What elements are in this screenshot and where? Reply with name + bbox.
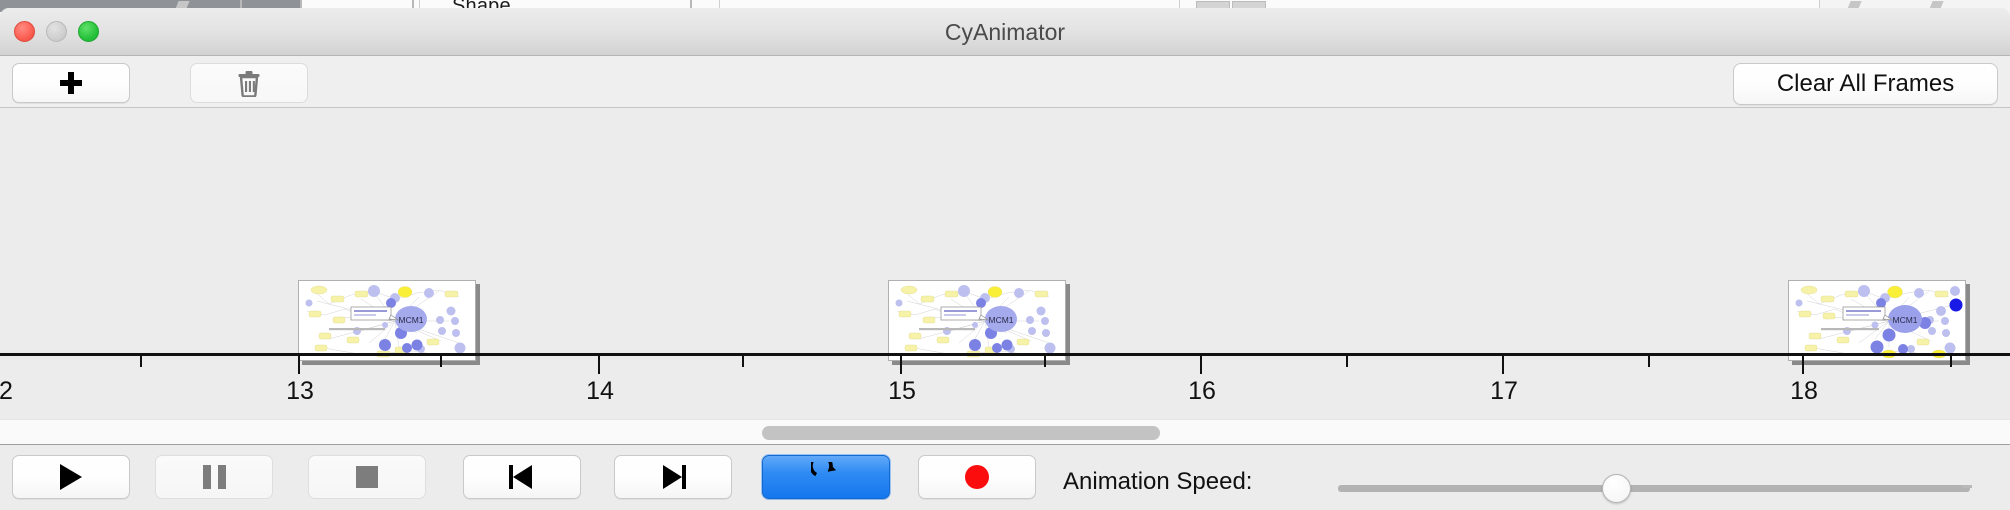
- timeline-ruler[interactable]: 2 13 14 15 16 17 18: [0, 353, 2010, 405]
- ruler-major-tick: [1802, 356, 1804, 374]
- slider-track[interactable]: [1338, 485, 1970, 492]
- highlight-node: [1950, 299, 1963, 312]
- network-graph-1: MCM1: [299, 281, 475, 360]
- add-frame-button[interactable]: [12, 63, 130, 103]
- record-button[interactable]: [918, 455, 1036, 499]
- ruler-label: 18: [1790, 377, 1818, 405]
- window-title: CyAnimator: [0, 8, 2010, 56]
- ruler-minor-tick: [140, 356, 142, 367]
- network-graph-2: MCM1: [889, 281, 1065, 360]
- ruler-major-tick: [598, 356, 600, 374]
- ruler-label: 17: [1490, 377, 1518, 405]
- skip-forward-icon: [660, 465, 686, 489]
- svg-text:MCM1: MCM1: [988, 315, 1013, 325]
- timeline-panel[interactable]: MCM1: [0, 108, 2010, 405]
- stop-icon: [356, 466, 378, 488]
- pause-button[interactable]: [155, 455, 273, 499]
- trash-icon: [237, 70, 261, 97]
- network-graph-3: MCM1: [1789, 281, 1965, 360]
- thumbnail-image: MCM1: [888, 280, 1066, 361]
- ruler-minor-tick: [742, 356, 744, 367]
- clear-all-frames-label: Clear All Frames: [1777, 70, 1954, 98]
- keyframe-thumbnail-2[interactable]: MCM1: [888, 280, 1066, 361]
- stop-button[interactable]: [308, 455, 426, 499]
- loop-button[interactable]: [762, 455, 890, 499]
- keyframe-thumbnail-1[interactable]: MCM1: [298, 280, 476, 361]
- ruler-axis-line: [0, 353, 2010, 356]
- ruler-minor-tick: [1346, 356, 1348, 367]
- cyanimator-window: CyAnimator Clear All Frames: [0, 8, 2010, 510]
- slider-knob[interactable]: [1602, 474, 1631, 503]
- ruler-label: 14: [586, 377, 614, 405]
- skip-to-end-button[interactable]: [614, 455, 732, 499]
- delete-frame-button[interactable]: [190, 63, 308, 103]
- ruler-minor-tick: [1648, 356, 1650, 367]
- svg-text:MCM1: MCM1: [1892, 315, 1917, 325]
- record-icon: [965, 465, 989, 489]
- ruler-label: 2: [0, 377, 13, 405]
- ruler-label: 13: [286, 377, 314, 405]
- svg-text:MCM1: MCM1: [398, 315, 423, 325]
- frame-toolbar: Clear All Frames: [0, 56, 2010, 108]
- play-icon: [60, 464, 82, 490]
- ruler-major-tick: [298, 356, 300, 374]
- timeline-horizontal-scrollbar[interactable]: [0, 419, 2010, 445]
- ruler-major-tick: [1200, 356, 1202, 374]
- ruler-major-tick: [1502, 356, 1504, 374]
- ruler-minor-tick: [440, 356, 442, 367]
- scrollbar-thumb[interactable]: [762, 426, 1160, 440]
- ruler-minor-tick: [1044, 356, 1046, 367]
- slider-track-tail: [1962, 485, 1972, 488]
- window-titlebar[interactable]: CyAnimator: [0, 8, 2010, 56]
- ruler-minor-tick: [1950, 356, 1952, 367]
- skip-back-icon: [509, 465, 535, 489]
- ruler-major-tick: [900, 356, 902, 374]
- ruler-label: 16: [1188, 377, 1216, 405]
- playback-toolbar: Animation Speed:: [0, 446, 2010, 510]
- thumbnail-image: MCM1: [298, 280, 476, 361]
- screen: Shape CyAnimator: [0, 0, 2010, 510]
- play-button[interactable]: [12, 455, 130, 499]
- animation-speed-label: Animation Speed:: [1063, 468, 1252, 496]
- loop-icon: [811, 462, 841, 492]
- animation-speed-slider[interactable]: [1338, 475, 1970, 505]
- clear-all-frames-button[interactable]: Clear All Frames: [1733, 63, 1998, 105]
- keyframe-thumbnail-3[interactable]: MCM1: [1788, 280, 1966, 361]
- thumbnail-image: MCM1: [1788, 280, 1966, 361]
- plus-icon: [60, 72, 82, 94]
- skip-to-start-button[interactable]: [463, 455, 581, 499]
- ruler-label: 15: [888, 377, 916, 405]
- pause-icon: [203, 465, 226, 489]
